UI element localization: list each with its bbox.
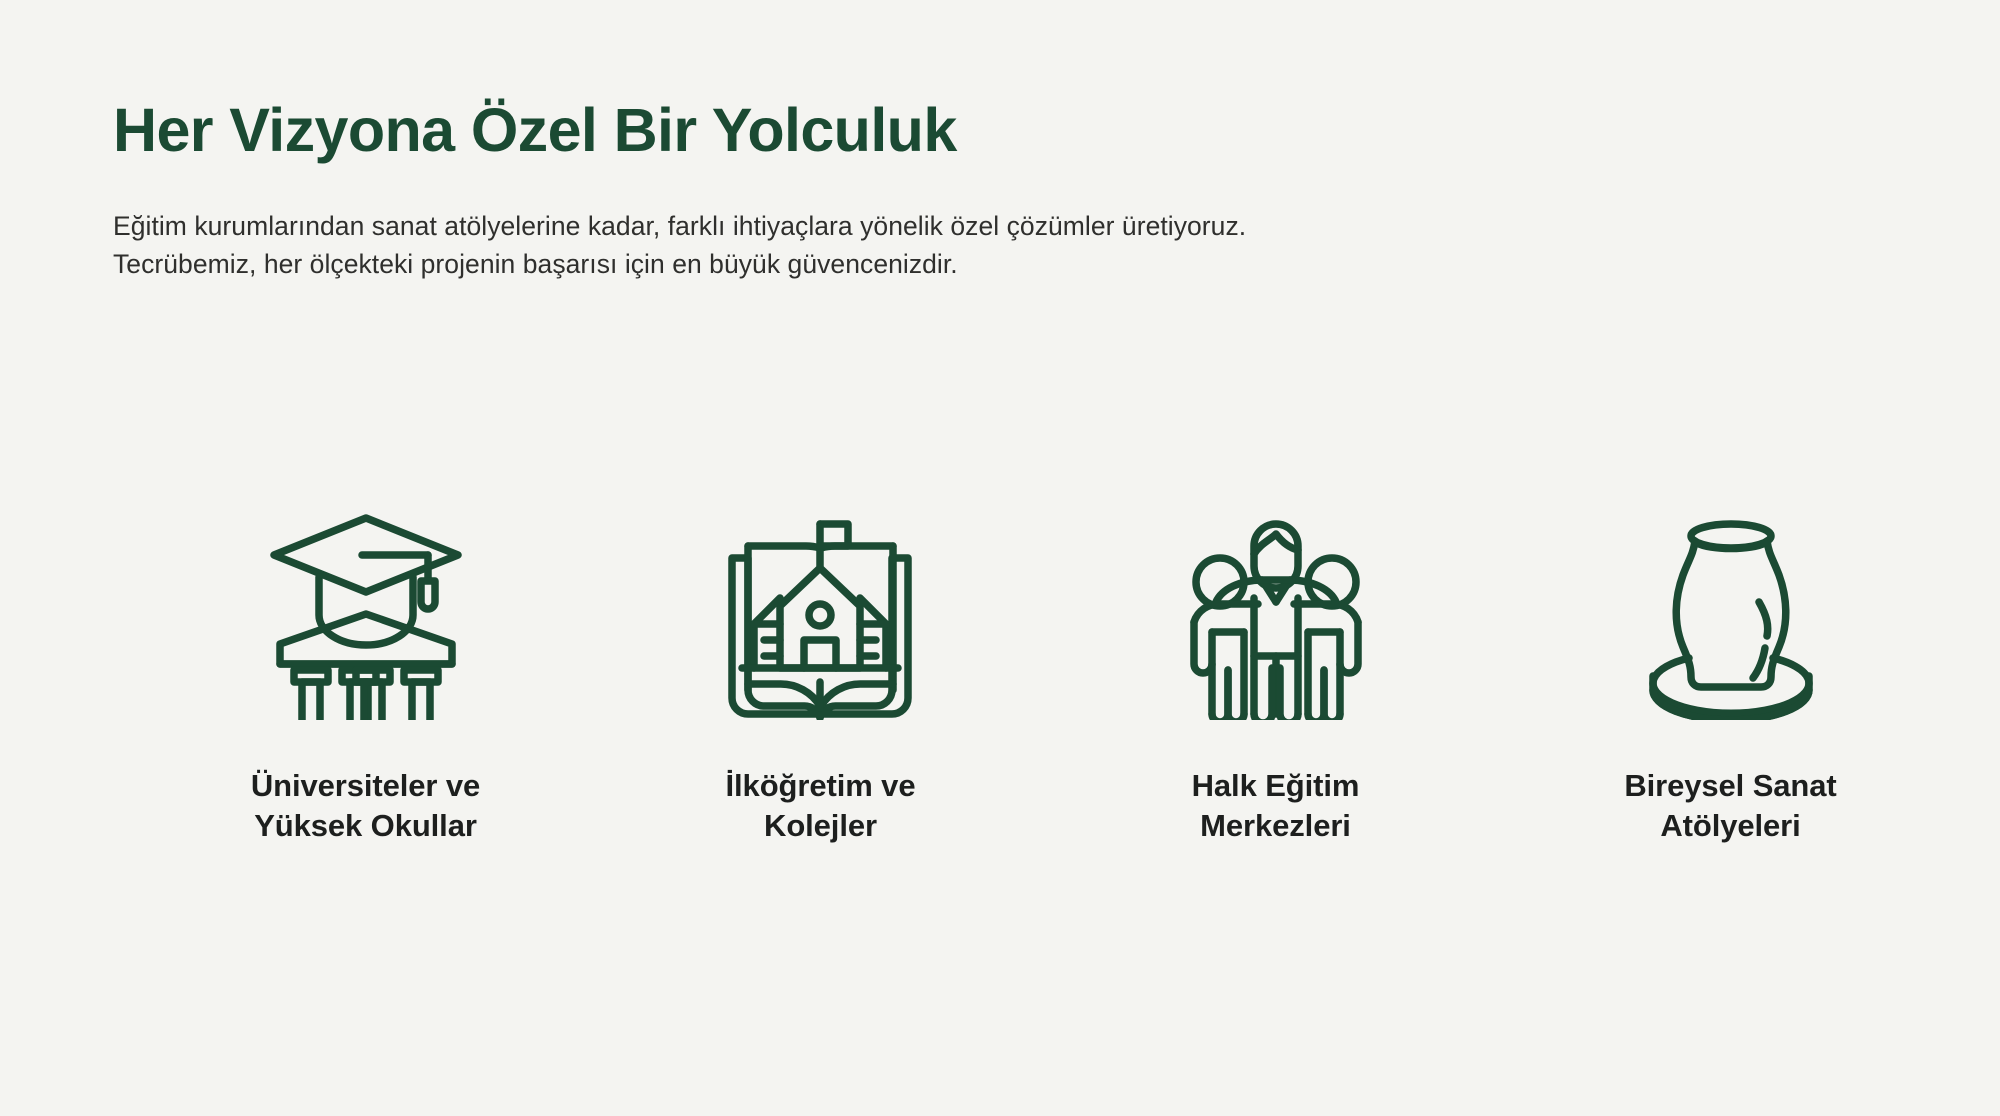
card-primary-schools[interactable]: İlköğretim ve Kolejler — [593, 490, 1048, 847]
card-label-line-2: Merkezleri — [1192, 806, 1360, 846]
subtitle-line-1: Eğitim kurumlarından sanat atölyelerine … — [113, 208, 1713, 246]
card-public-education-centers[interactable]: Halk Eğitim Merkezleri — [1048, 490, 1503, 847]
card-label: Üniversiteler ve Yüksek Okullar — [251, 766, 480, 847]
open-book-school-icon — [696, 490, 946, 740]
card-label-line-1: Halk Eğitim — [1192, 766, 1360, 806]
card-label-line-1: Bireysel Sanat — [1624, 766, 1836, 806]
card-label-line-1: İlköğretim ve — [726, 766, 916, 806]
card-label: İlköğretim ve Kolejler — [726, 766, 916, 847]
pottery-vase-wheel-icon — [1606, 490, 1856, 740]
card-label: Halk Eğitim Merkezleri — [1192, 766, 1360, 847]
card-label-line-1: Üniversiteler ve — [251, 766, 480, 806]
university-building-graduation-cap-icon — [241, 490, 491, 740]
card-label-line-2: Kolejler — [726, 806, 916, 846]
three-people-group-icon — [1151, 490, 1401, 740]
card-label-line-2: Yüksek Okullar — [251, 806, 480, 846]
category-cards-row: Üniversiteler ve Yüksek Okullar — [0, 490, 2000, 847]
page-subtitle: Eğitim kurumlarından sanat atölyelerine … — [113, 208, 1713, 283]
subtitle-line-2: Tecrübemiz, her ölçekteki projenin başar… — [113, 246, 1713, 284]
page-title: Her Vizyona Özel Bir Yolculuk — [113, 98, 1813, 164]
page-root: Her Vizyona Özel Bir Yolculuk Eğitim kur… — [0, 0, 2000, 1116]
card-label: Bireysel Sanat Atölyeleri — [1624, 766, 1836, 847]
header-block: Her Vizyona Özel Bir Yolculuk Eğitim kur… — [113, 98, 1813, 283]
card-label-line-2: Atölyeleri — [1624, 806, 1836, 846]
card-individual-art-studios[interactable]: Bireysel Sanat Atölyeleri — [1503, 490, 1958, 847]
card-universities[interactable]: Üniversiteler ve Yüksek Okullar — [138, 490, 593, 847]
